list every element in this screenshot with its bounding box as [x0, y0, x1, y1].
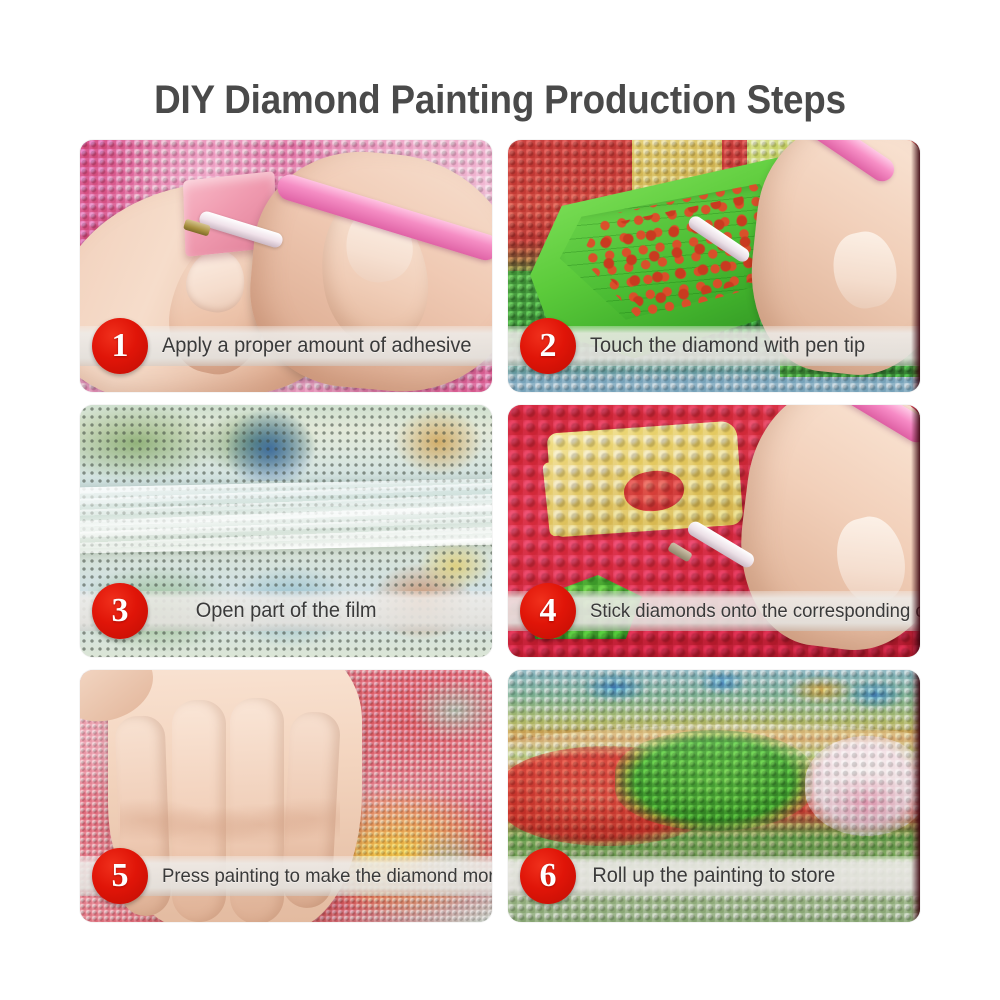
page-title: DIY Diamond Painting Production Steps — [40, 78, 960, 123]
roll-curvature-shading — [508, 722, 920, 866]
step-4-number-badge: 4 — [520, 583, 576, 639]
step-2-caption-text: Touch the diamond with pen tip — [590, 334, 865, 358]
step-panel-1: Apply a proper amount of adhesive 1 — [80, 140, 492, 392]
step-6-caption-text: Roll up the painting to store — [593, 864, 836, 888]
step-1-caption-text: Apply a proper amount of adhesive — [162, 334, 471, 358]
step-5-number-badge: 5 — [92, 848, 148, 904]
step-panel-5: Press painting to make the diamond more … — [80, 670, 492, 922]
step-3-number-badge: 3 — [92, 583, 148, 639]
steps-grid: Apply a proper amount of adhesive 1 Touc… — [80, 140, 920, 922]
step-2-number-badge: 2 — [520, 318, 576, 374]
step-panel-4: Stick diamonds onto the corresponding ca… — [508, 405, 920, 657]
film-highlight-streaks — [80, 481, 492, 548]
step-panel-3: Open part of the film 3 — [80, 405, 492, 657]
step-1-number-badge: 1 — [92, 318, 148, 374]
step-6-number-badge: 6 — [520, 848, 576, 904]
step-2-number: 2 — [540, 329, 557, 363]
step-4-number: 4 — [540, 594, 557, 628]
step-panel-2: Touch the diamond with pen tip 2 — [508, 140, 920, 392]
knuckle-creases — [120, 796, 340, 856]
step-3-number: 3 — [112, 594, 129, 628]
step-5-number: 5 — [112, 859, 129, 893]
step-panel-6: Roll up the painting to store 6 — [508, 670, 920, 922]
step-5-caption-text: Press painting to make the diamond more … — [162, 865, 492, 888]
step-1-number: 1 — [112, 329, 129, 363]
step-4-caption-text: Stick diamonds onto the corresponding ca… — [590, 600, 920, 623]
step-3-caption-text: Open part of the film — [196, 599, 377, 623]
step-6-number: 6 — [540, 859, 557, 893]
